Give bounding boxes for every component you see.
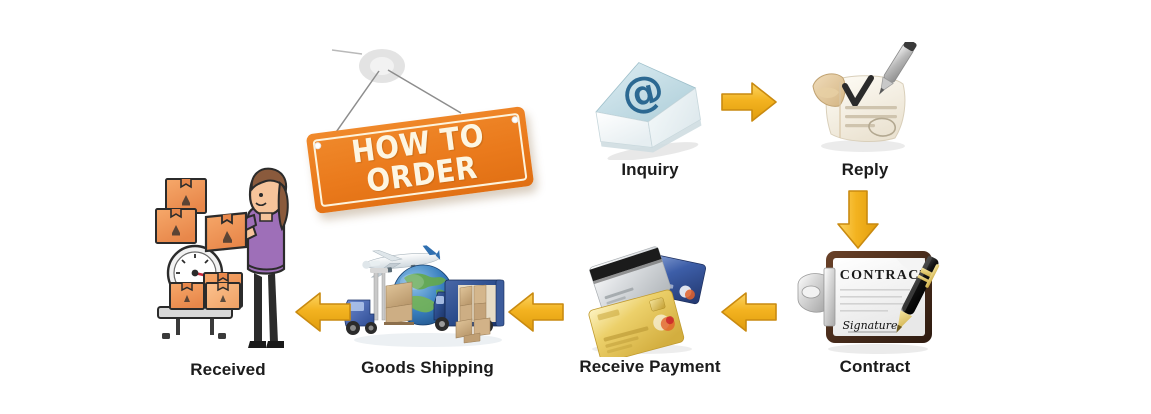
- goods-shipping-art: [340, 240, 515, 358]
- how-to-order-sign-group: HOW TO ORDER: [300, 40, 550, 240]
- receive-payment-art: [570, 245, 730, 357]
- svg-text:Signature: Signature: [842, 319, 898, 332]
- step-inquiry[interactable]: @ Inquiry: [580, 52, 720, 180]
- step-label-receive-payment: Receive Payment: [570, 357, 730, 377]
- clipboard-contract-pen-icon: CONTRACT Signature: [790, 245, 960, 357]
- box-held: [206, 213, 246, 251]
- worker-boxes-scale-icon: [148, 165, 308, 360]
- hook-ring-inner: [370, 57, 394, 75]
- credit-cards-icon: [570, 245, 730, 357]
- step-label-inquiry: Inquiry: [580, 160, 720, 180]
- step-label-goods-shipping: Goods Shipping: [340, 358, 515, 378]
- envelope-at-icon: @: [580, 52, 720, 160]
- step-reply[interactable]: Reply: [795, 42, 935, 180]
- airplane-globe-truck-forklift-icon: [340, 240, 515, 358]
- step-goods-shipping[interactable]: Goods Shipping: [340, 240, 515, 378]
- contract-art: CONTRACT Signature: [790, 245, 960, 357]
- arrow-inquiry-to-reply: [718, 78, 780, 131]
- step-label-received: Received: [148, 360, 308, 380]
- worker-figure: [211, 169, 288, 348]
- arrow-down-icon: [833, 188, 883, 252]
- ceiling-mount-line: [332, 50, 362, 54]
- scroll-checkmark-pen-icon: [795, 42, 935, 160]
- reply-art: [795, 42, 935, 160]
- sign-wire-right: [388, 70, 461, 113]
- step-label-contract: Contract: [790, 357, 960, 377]
- arrow-right-icon: [718, 78, 780, 126]
- inquiry-art: @: [580, 52, 720, 160]
- step-label-reply: Reply: [795, 160, 935, 180]
- received-art: [148, 165, 308, 360]
- step-received[interactable]: Received: [148, 165, 308, 380]
- step-contract[interactable]: CONTRACT Signature: [790, 245, 960, 377]
- step-receive-payment[interactable]: Receive Payment: [570, 245, 730, 377]
- how-to-order-diagram: HOW TO ORDER: [0, 0, 1151, 414]
- boxes-top-left: [156, 179, 206, 243]
